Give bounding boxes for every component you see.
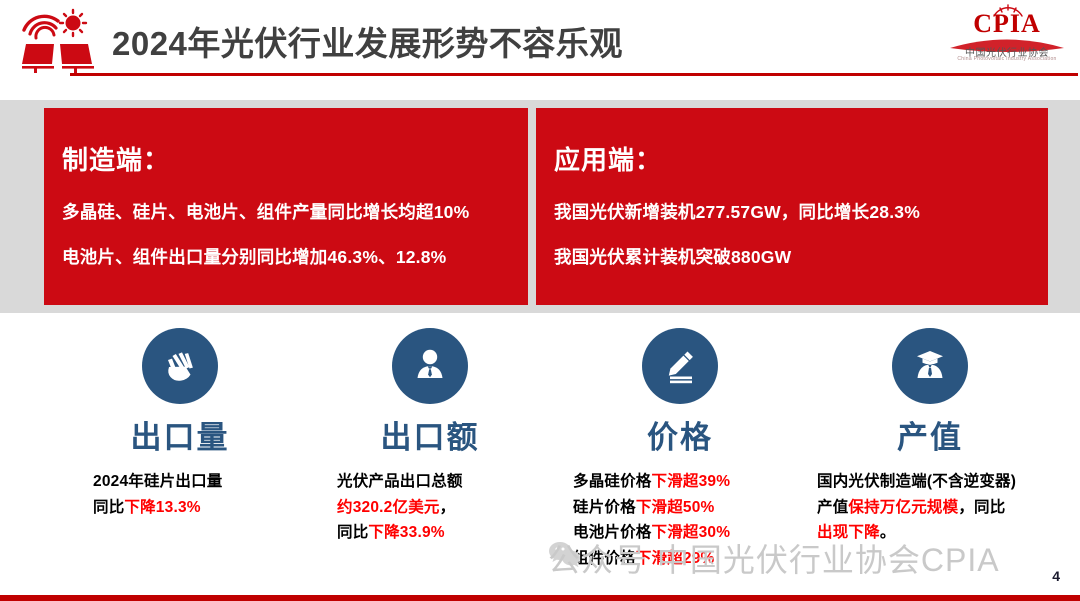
text-run-highlight: 下滑超50% [636,499,715,516]
text-run: 组件价格 [573,550,636,567]
solar-panel-sun-icon [18,8,98,74]
manufacturing-panel-line-2: 电池片、组件出口量分别同比增加46.3%、12.8% [62,244,510,269]
summary-band: 制造端： 多晶硅、硅片、电池片、组件产量同比增长均超10% 电池片、组件出口量分… [0,100,1080,313]
metric-column-price: 价格 多晶硅价格下滑超39% 硅片价格下滑超50% 电池片价格下滑超30% 组件… [555,320,805,571]
text-run: 硅片价格 [573,499,636,516]
metric-text-price: 多晶硅价格下滑超39% 硅片价格下滑超50% 电池片价格下滑超30% 组件价格下… [573,469,781,571]
text-run: 光伏产品出口总额 [337,473,463,490]
text-run: 多晶硅价格 [573,473,652,490]
text-run-highlight: 约320.2亿美元 [337,499,440,516]
metric-label-output-value: 产值 [805,412,1055,457]
footer-bar [0,595,1080,601]
page-title: 2024年光伏行业发展形势不容乐观 [112,17,623,65]
manufacturing-panel-line-1: 多晶硅、硅片、电池片、组件产量同比增长均超10% [62,199,510,224]
header-divider [70,73,1078,76]
text-run-highlight: 下滑超29% [636,550,715,567]
text-run-highlight: 下滑超30% [652,524,731,541]
metric-label-price: 价格 [555,412,805,457]
text-run-highlight: 下降13.3% [124,499,200,516]
clapping-hands-icon [142,328,218,404]
graduate-scale-icon [892,328,968,404]
page-number: 4 [1052,568,1060,584]
text-run: ，同比 [958,499,1005,516]
pencil-writing-icon [642,328,718,404]
wechat-icon [548,540,582,570]
metric-text-export-volume: 2024年硅片出口量同比下降13.3% [93,469,225,520]
manufacturing-panel: 制造端： 多晶硅、硅片、电池片、组件产量同比增长均超10% 电池片、组件出口量分… [44,108,528,305]
text-run: 。 [880,524,896,541]
person-tie-icon [392,328,468,404]
metric-label-export-value: 出口额 [305,412,555,457]
metric-column-export-volume: 出口量 2024年硅片出口量同比下降13.3% [55,320,305,520]
logo-acronym: CPIA [944,9,1070,39]
text-run-highlight: 下滑超39% [652,473,731,490]
metric-column-output-value: 产值 国内光伏制造端(不含逆变器)产值保持万亿元规模，同比出现下降。 [805,320,1055,546]
cpia-logo: CPIA 中国光伏行业协会 China Photovoltaic Industr… [944,4,1070,70]
metric-label-export-volume: 出口量 [55,412,305,457]
text-run: 电池片价格 [573,524,652,541]
slide: 2024年光伏行业发展形势不容乐观 CPIA 中国光伏行业协会 China Ph… [0,0,1080,601]
metric-columns: 出口量 2024年硅片出口量同比下降13.3% 出口额 [0,320,1080,575]
text-run-highlight: 保持万亿元规模 [848,499,958,516]
metric-column-export-value: 出口额 光伏产品出口总额约320.2亿美元，同比下降33.9% [305,320,555,546]
slide-header: 2024年光伏行业发展形势不容乐观 CPIA 中国光伏行业协会 China Ph… [0,0,1080,88]
price-line: 电池片价格下滑超30% [573,520,781,546]
text-run-highlight: 出现下降 [817,524,880,541]
logo-english-name: China Photovoltaic Industry Association [944,56,1070,62]
price-line: 组件价格下滑超29% [573,546,781,572]
application-panel-line-2: 我国光伏累计装机突破880GW [554,244,1030,269]
text-run-highlight: 下降33.9% [368,524,444,541]
metric-text-export-value: 光伏产品出口总额约320.2亿美元，同比下降33.9% [337,469,469,546]
price-line: 硅片价格下滑超50% [573,495,781,521]
price-line: 多晶硅价格下滑超39% [573,469,781,495]
application-panel: 应用端： 我国光伏新增装机277.57GW，同比增长28.3% 我国光伏累计装机… [536,108,1048,305]
metric-text-output-value: 国内光伏制造端(不含逆变器)产值保持万亿元规模，同比出现下降。 [817,469,1017,546]
manufacturing-panel-title: 制造端： [62,140,510,177]
application-panel-title: 应用端： [554,140,1030,177]
application-panel-line-1: 我国光伏新增装机277.57GW，同比增长28.3% [554,199,1030,224]
